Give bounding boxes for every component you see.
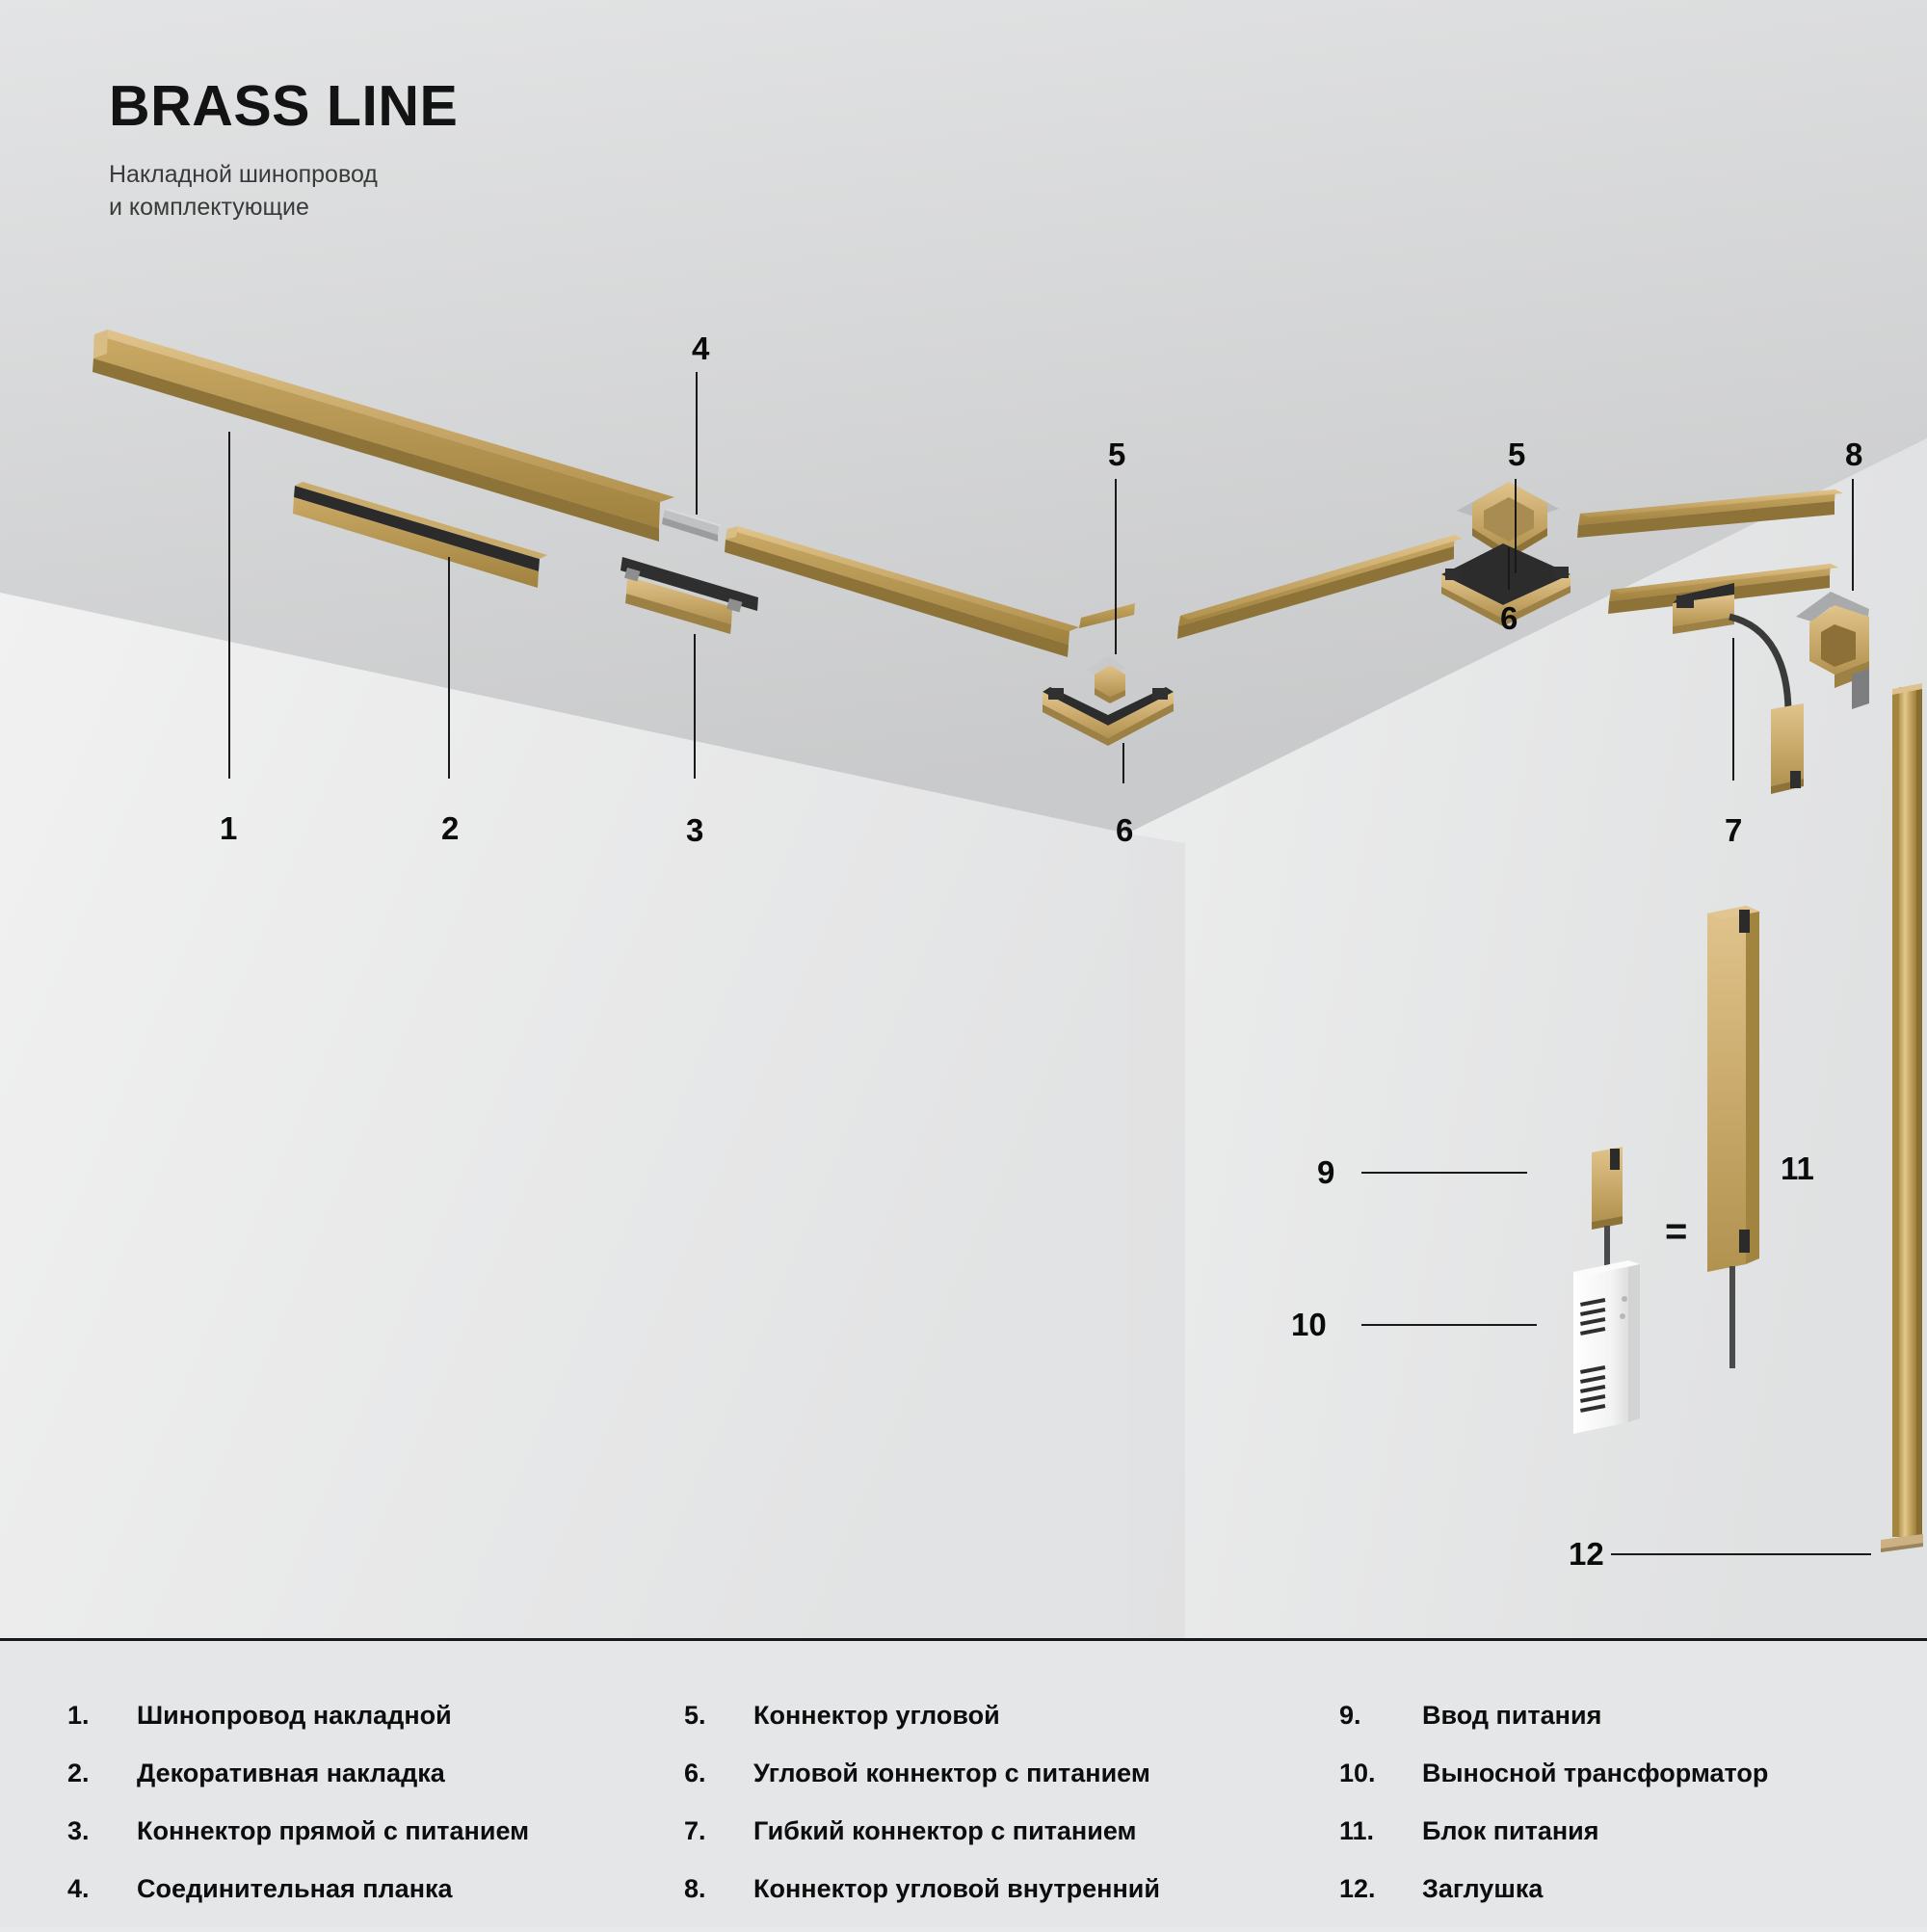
legend-item-8: 8. Коннектор угловой внутренний: [684, 1874, 1330, 1932]
room-illustration: [0, 0, 1927, 1638]
callout-4: 4: [692, 332, 709, 364]
legend-label: Коннектор угловой: [753, 1701, 1000, 1731]
leader-line-12: [1611, 1553, 1871, 1555]
callout-12: 12: [1569, 1538, 1604, 1570]
leader-line-6a: [1122, 743, 1124, 783]
leader-line-8: [1852, 479, 1854, 591]
callout-6b: 6: [1500, 602, 1518, 634]
legend-column-2: 5. Коннектор угловой 6. Угловой коннекто…: [665, 1701, 1330, 1927]
legend-column-1: 1. Шинопровод накладной 2. Декоративная …: [0, 1701, 665, 1927]
legend-item-1: 1. Шинопровод накладной: [67, 1701, 665, 1759]
callout-10: 10: [1291, 1309, 1327, 1340]
callout-6a: 6: [1116, 814, 1133, 846]
leader-line-6b: [1508, 547, 1510, 590]
callout-8: 8: [1845, 438, 1862, 470]
legend-index: 11.: [1339, 1816, 1422, 1846]
legend-label: Гибкий коннектор с питанием: [753, 1816, 1136, 1846]
leader-line-10: [1361, 1324, 1537, 1326]
legend-index: 3.: [67, 1816, 137, 1846]
callout-7: 7: [1725, 814, 1742, 846]
legend-item-6: 6. Угловой коннектор с питанием: [684, 1759, 1330, 1816]
callout-9: 9: [1317, 1156, 1334, 1188]
legend-item-2: 2. Декоративная накладка: [67, 1759, 665, 1816]
callout-3: 3: [686, 814, 703, 846]
leader-line-7: [1732, 638, 1734, 781]
legend-item-12: 12. Заглушка: [1339, 1874, 1927, 1932]
legend-index: 5.: [684, 1701, 753, 1731]
legend-index: 8.: [684, 1874, 753, 1904]
leader-line-4: [696, 372, 698, 515]
legend-label: Заглушка: [1422, 1874, 1543, 1904]
legend-label: Угловой коннектор с питанием: [753, 1759, 1150, 1788]
product-diagram-page: = 1 2 3 4 5 5 6 6 7 8 9 10 11 12 BRASS L…: [0, 0, 1927, 1927]
legend-item-9: 9. Ввод питания: [1339, 1701, 1927, 1759]
legend-label: Коннектор угловой внутренний: [753, 1874, 1160, 1904]
legend-index: 9.: [1339, 1701, 1422, 1731]
legend-index: 7.: [684, 1816, 753, 1846]
leader-line-9: [1361, 1172, 1527, 1174]
leader-line-3: [694, 634, 696, 779]
legend-index: 2.: [67, 1759, 137, 1788]
callout-5a: 5: [1108, 438, 1125, 470]
legend-index: 12.: [1339, 1874, 1422, 1904]
leader-line-2: [448, 557, 450, 779]
equals-symbol: =: [1665, 1212, 1687, 1251]
page-title: BRASS LINE: [109, 77, 458, 137]
leader-line-1: [228, 432, 230, 779]
remote-transformer: [1573, 1260, 1640, 1434]
legend-item-5: 5. Коннектор угловой: [684, 1701, 1330, 1759]
callout-11: 11: [1781, 1152, 1814, 1184]
page-subtitle: Накладной шинопровод и комплектующие: [109, 158, 458, 225]
legend-item-11: 11. Блок питания: [1339, 1816, 1927, 1874]
callout-2: 2: [441, 812, 459, 844]
legend-label: Шинопровод накладной: [137, 1701, 452, 1731]
legend-item-10: 10. Выносной трансформатор: [1339, 1759, 1927, 1816]
legend-index: 6.: [684, 1759, 753, 1788]
legend-label: Соединительная планка: [137, 1874, 453, 1904]
room-scene: = 1 2 3 4 5 5 6 6 7 8 9 10 11 12: [0, 0, 1927, 1638]
vertical-track-rail: [1892, 683, 1922, 1539]
legend-label: Коннектор прямой с питанием: [137, 1816, 529, 1846]
leader-line-5b: [1515, 479, 1517, 573]
legend-label: Блок питания: [1422, 1816, 1599, 1846]
legend-index: 10.: [1339, 1759, 1422, 1788]
legend-item-7: 7. Гибкий коннектор с питанием: [684, 1816, 1330, 1874]
legend-index: 4.: [67, 1874, 137, 1904]
callout-5b: 5: [1508, 438, 1525, 470]
legend-index: 1.: [67, 1701, 137, 1731]
page-header: BRASS LINE Накладной шинопровод и компле…: [109, 77, 458, 225]
legend-item-4: 4. Соединительная планка: [67, 1874, 665, 1932]
legend-label: Декоративная накладка: [137, 1759, 445, 1788]
legend-label: Выносной трансформатор: [1422, 1759, 1768, 1788]
callout-1: 1: [220, 812, 237, 844]
legend-panel: 1. Шинопровод накладной 2. Декоративная …: [0, 1641, 1927, 1927]
legend-item-3: 3. Коннектор прямой с питанием: [67, 1816, 665, 1874]
legend-label: Ввод питания: [1422, 1701, 1601, 1731]
legend-column-3: 9. Ввод питания 10. Выносной трансформат…: [1330, 1701, 1927, 1927]
leader-line-5a: [1115, 479, 1117, 654]
corner-shadow: [1127, 834, 1185, 1638]
